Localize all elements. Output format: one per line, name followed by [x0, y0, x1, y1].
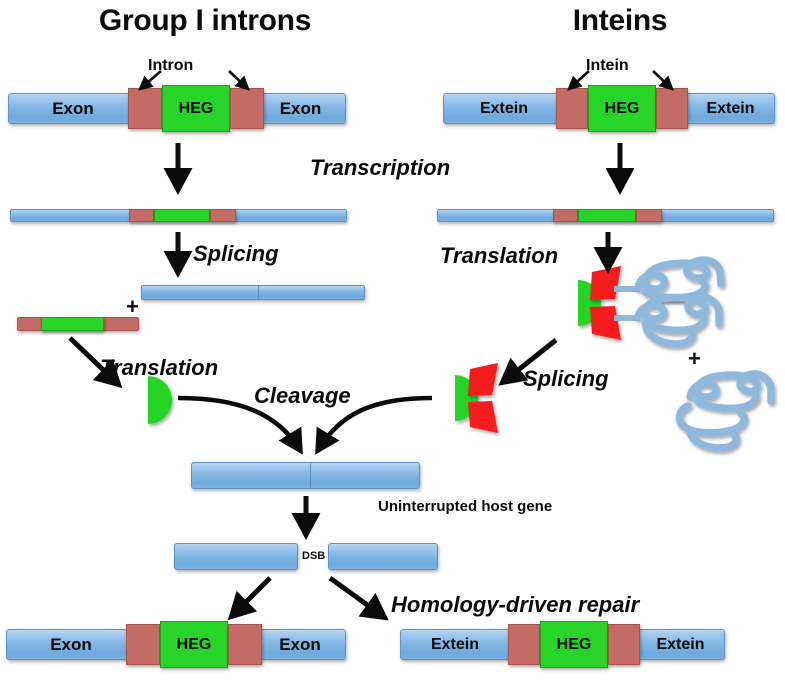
dsb-fragment-right — [328, 543, 438, 570]
extein-right-segment: Extein — [686, 93, 775, 124]
heg-block-right-top: HEG — [588, 85, 656, 132]
plus-sign-left: + — [126, 296, 139, 318]
intron-left-block — [128, 88, 162, 129]
extein-coil-lower — [638, 297, 719, 344]
transcript-left-intron-5 — [129, 209, 154, 222]
uninterrupted-host-gene-bar — [191, 462, 420, 489]
heg-right-label-final: HEG — [541, 622, 607, 667]
exon-left-label-final: Exon — [6, 629, 136, 660]
extein-left-label: Extein — [443, 93, 565, 124]
intein-left-block — [556, 88, 588, 129]
intein-annotation-label: Intein — [586, 57, 629, 75]
heg-block-left-top: HEG — [162, 85, 230, 132]
heg-right-label: HEG — [589, 86, 655, 131]
intein-right-block — [656, 88, 688, 129]
translation-label-right: Translation — [440, 243, 558, 269]
transcript-left-heg — [154, 209, 210, 222]
exon-left-segment: Exon — [8, 93, 138, 124]
intron-annotation-label: Intron — [148, 57, 193, 75]
free-extein-coil — [679, 374, 771, 448]
dsb-label: DSB — [302, 550, 325, 562]
homology-driven-repair-label: Homology-driven repair — [391, 592, 639, 618]
mrna-seam — [258, 286, 259, 299]
extein-right-label-final: Extein — [636, 629, 725, 660]
translation-label-left: Translation — [100, 355, 218, 381]
intron-left-block-final — [126, 624, 160, 665]
extein-left-segment-final: Extein — [400, 629, 510, 660]
transcript-left-intron-3 — [210, 209, 236, 222]
heg-left-label: HEG — [163, 86, 229, 131]
extein-right-label: Extein — [686, 93, 775, 124]
exon-left-segment-final: Exon — [6, 629, 136, 660]
transcript-right-intein-3 — [636, 209, 662, 222]
extein-right-segment-final: Extein — [636, 629, 725, 660]
repair-arrow-left — [232, 578, 270, 616]
splicing-label-left: Splicing — [193, 241, 279, 267]
column-title-inteins: Inteins — [520, 4, 720, 38]
plus-sign-right: + — [688, 348, 701, 370]
exon-left-label: Exon — [8, 93, 138, 124]
exon-right-segment: Exon — [255, 93, 346, 124]
exon-right-segment-final: Exon — [254, 629, 346, 660]
cleavage-label: Cleavage — [254, 383, 351, 409]
extein-coil-upper — [638, 260, 721, 298]
heg-block-right-final: HEG — [540, 621, 608, 668]
uninterrupted-host-gene-label: Uninterrupted host gene — [378, 498, 552, 515]
heg-left-label-final: HEG — [161, 622, 227, 667]
exon-right-label: Exon — [255, 93, 346, 124]
extein-left-segment: Extein — [443, 93, 565, 124]
transcription-label: Transcription — [310, 155, 450, 181]
intein-left-block-final — [508, 624, 540, 665]
dsb-fragment-left — [174, 543, 298, 570]
intron-callout-arrow-right — [229, 71, 248, 89]
intein-precursor-protein — [578, 260, 721, 344]
column-title-group-i-introns: Group I introns — [60, 4, 350, 38]
transcript-right-intein-5 — [553, 209, 578, 222]
heg-block-left-final: HEG — [160, 621, 228, 668]
intein-endonuclease-spliced — [455, 363, 498, 433]
figure-canvas: Group I introns Inteins Intron Exon HEG … — [0, 0, 785, 686]
homing-endonuclease-left — [148, 376, 172, 424]
spliced-host-mrna — [141, 285, 365, 300]
exon-right-label-final: Exon — [254, 629, 346, 660]
extein-left-label-final: Extein — [400, 629, 510, 660]
transcript-right-heg — [578, 209, 636, 222]
host-gene-seam — [310, 463, 311, 488]
repair-arrow-right — [330, 578, 384, 617]
excised-intron-heg — [41, 317, 104, 331]
splicing-label-right: Splicing — [523, 366, 609, 392]
